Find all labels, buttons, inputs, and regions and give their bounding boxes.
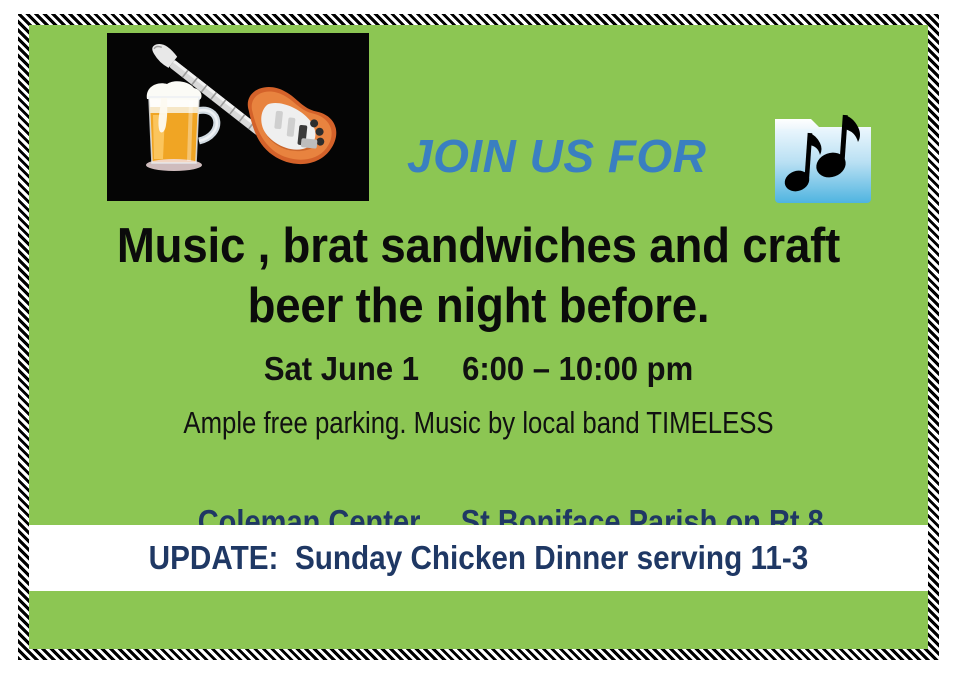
decorative-hatched-border: JOIN US FOR [18, 14, 939, 660]
join-us-headline: JOIN US FOR [407, 133, 706, 179]
flyer-headline: Music , brat sandwiches and craft beer t… [60, 217, 896, 337]
event-datetime: Sat June 1 6:00 – 10:00 pm [56, 350, 901, 388]
update-text: UPDATE: Sunday Chicken Dinner serving 11… [149, 539, 809, 577]
headline-line-1: Music , brat sandwiches and craft [60, 217, 896, 277]
beer-guitar-illustration [107, 33, 369, 201]
parking-and-band-note: Ample free parking. Music by local band … [105, 405, 851, 441]
flyer-page: JOIN US FOR [0, 0, 957, 674]
flyer-body: JOIN US FOR [29, 25, 928, 649]
music-folder-icon [769, 103, 877, 211]
flyer-header-row: JOIN US FOR [29, 25, 928, 211]
beer-and-guitar-photo [107, 33, 369, 201]
update-banner: UPDATE: Sunday Chicken Dinner serving 11… [29, 525, 928, 591]
headline-line-2: beer the night before. [60, 277, 896, 337]
